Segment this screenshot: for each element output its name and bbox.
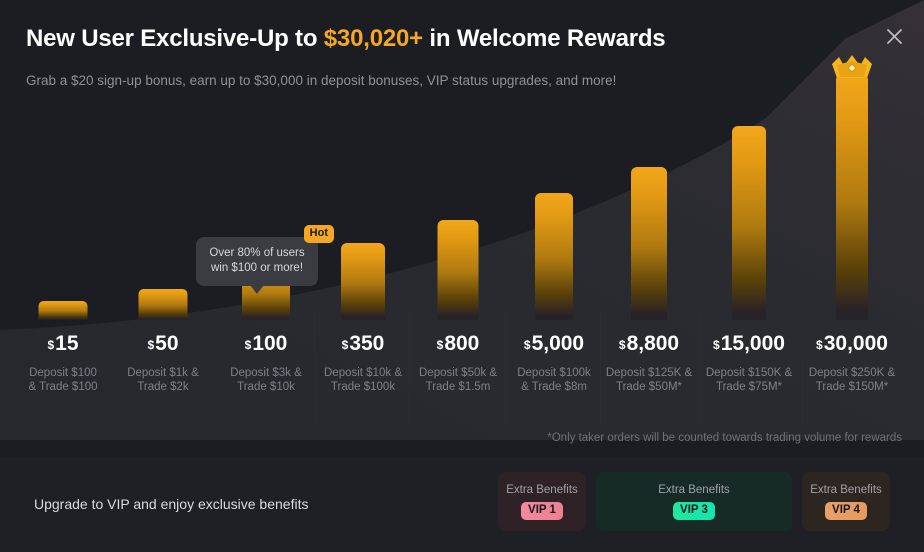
vip-benefit-card[interactable]: Extra BenefitsVIP 3: [596, 472, 792, 531]
vip-footer: Upgrade to VIP and enjoy exclusive benef…: [0, 458, 924, 552]
reward-amount: $350: [342, 332, 385, 358]
reward-amount-value: 30,000: [824, 332, 888, 356]
currency-symbol: $: [147, 333, 154, 357]
currency-symbol: $: [342, 333, 349, 357]
column-divider: [505, 310, 506, 424]
column-divider: [314, 310, 315, 424]
tier-requirement: Deposit $150K &: [700, 366, 798, 380]
bar-zone: [600, 96, 698, 320]
reward-tier-column[interactable]: $8,800Deposit $125K &Trade $50M*: [600, 96, 698, 424]
tier-requirement-line2: Trade $75M*: [700, 380, 798, 394]
reward-bar: [732, 126, 766, 320]
rewards-bar-chart: $15Deposit $100& Trade $100$50Deposit $1…: [0, 96, 924, 424]
reward-amount-value: 8,800: [627, 332, 680, 356]
reward-amount-value: 800: [444, 332, 479, 356]
tier-requirement-line2: Trade $50M*: [600, 380, 698, 394]
bar-zone: [217, 96, 315, 320]
bar-zone: [802, 96, 902, 320]
vip-level-badge: VIP 3: [673, 502, 715, 520]
reward-amount-value: 100: [252, 332, 287, 356]
tier-requirement-line2: & Trade $8m: [505, 380, 603, 394]
vip-benefit-card[interactable]: Extra BenefitsVIP 4: [802, 472, 890, 531]
reward-amount: $15,000: [713, 332, 785, 358]
tier-requirement: Deposit $100k: [505, 366, 603, 380]
currency-symbol: $: [524, 333, 531, 357]
close-button[interactable]: [878, 20, 910, 52]
tooltip-line-1: Over 80% of users: [206, 246, 308, 261]
tier-requirement-line2: Trade $1.5m: [409, 380, 507, 394]
vip-card-list: Extra BenefitsVIP 1Extra BenefitsVIP 3Ex…: [498, 472, 890, 531]
promo-modal: New User Exclusive-Up to $30,020+ in Wel…: [0, 0, 924, 552]
reward-amount-value: 50: [155, 332, 178, 356]
reward-tier-column[interactable]: $15Deposit $100& Trade $100: [14, 96, 112, 424]
reward-amount: $800: [437, 332, 480, 358]
bar-zone: [14, 96, 112, 320]
reward-bar: [139, 289, 188, 320]
page-title: New User Exclusive-Up to $30,020+ in Wel…: [26, 22, 898, 56]
currency-symbol: $: [816, 333, 823, 357]
column-divider: [409, 310, 410, 424]
tooltip-pointer-icon: [250, 285, 264, 294]
reward-amount: $30,000: [816, 332, 888, 358]
vip-benefit-card[interactable]: Extra BenefitsVIP 1: [498, 472, 586, 531]
currency-symbol: $: [619, 333, 626, 357]
reward-amount: $50: [147, 332, 178, 358]
reward-amount: $15: [47, 332, 78, 358]
reward-bar: [836, 74, 868, 320]
tier-requirement-line2: Trade $150M*: [802, 380, 902, 394]
tier-requirement: Deposit $3k &: [217, 366, 315, 380]
tooltip-line-2: win $100 or more!: [206, 261, 308, 276]
currency-symbol: $: [437, 333, 444, 357]
reward-bar: [39, 301, 88, 320]
tier-requirement-line2: Trade $100k: [314, 380, 412, 394]
hot-tier-tooltip: Over 80% of users win $100 or more! Hot: [196, 237, 318, 286]
modal-subtitle: Grab a $20 sign-up bonus, earn up to $30…: [26, 71, 898, 90]
reward-tier-column[interactable]: $350Deposit $10k &Trade $100k: [314, 96, 412, 424]
vip-card-title: Extra Benefits: [810, 483, 882, 497]
reward-tier-column[interactable]: $5,000Deposit $100k& Trade $8m: [505, 96, 603, 424]
title-amount: $30,020+: [324, 25, 423, 52]
close-icon: [886, 28, 903, 45]
column-divider: [700, 310, 701, 424]
reward-bar: [631, 167, 667, 320]
tier-requirement: Deposit $1k &: [114, 366, 212, 380]
reward-tier-column[interactable]: $800Deposit $50k &Trade $1.5m: [409, 96, 507, 424]
bar-zone: [114, 96, 212, 320]
vip-card-title: Extra Benefits: [506, 483, 578, 497]
currency-symbol: $: [47, 333, 54, 357]
reward-tier-column[interactable]: $15,000Deposit $150K &Trade $75M*: [700, 96, 798, 424]
tier-requirement: Deposit $100: [14, 366, 112, 380]
tier-requirement-line2: & Trade $100: [14, 380, 112, 394]
reward-amount: $5,000: [524, 332, 584, 358]
modal-header: New User Exclusive-Up to $30,020+ in Wel…: [0, 0, 924, 90]
reward-amount: $100: [245, 332, 288, 358]
vip-level-badge: VIP 1: [521, 502, 563, 520]
title-prefix: New User Exclusive-Up to: [26, 25, 324, 52]
vip-card-title: Extra Benefits: [658, 483, 730, 497]
reward-amount-value: 15: [55, 332, 78, 356]
tier-requirement-line2: Trade $2k: [114, 380, 212, 394]
column-divider: [600, 310, 601, 424]
tier-requirement: Deposit $50k &: [409, 366, 507, 380]
currency-symbol: $: [713, 333, 720, 357]
reward-bar: [438, 220, 479, 320]
reward-amount: $8,800: [619, 332, 679, 358]
bar-zone: [505, 96, 603, 320]
reward-bar: [535, 193, 573, 320]
footnote-text: *Only taker orders will be counted towar…: [547, 430, 902, 446]
tier-requirement: Deposit $10k &: [314, 366, 412, 380]
reward-amount-value: 5,000: [532, 332, 585, 356]
hot-badge: Hot: [304, 225, 334, 243]
bar-zone: [314, 96, 412, 320]
currency-symbol: $: [245, 333, 252, 357]
bar-zone: [700, 96, 798, 320]
column-divider: [802, 310, 803, 424]
tier-requirement-line2: Trade $10k: [217, 380, 315, 394]
tier-requirement: Deposit $125K &: [600, 366, 698, 380]
title-suffix: in Welcome Rewards: [423, 25, 666, 52]
vip-upgrade-label: Upgrade to VIP and enjoy exclusive benef…: [34, 496, 308, 512]
reward-amount-value: 350: [349, 332, 384, 356]
vip-level-badge: VIP 4: [825, 502, 867, 520]
bar-zone: [409, 96, 507, 320]
tier-requirement: Deposit $250K &: [802, 366, 902, 380]
reward-bar: [341, 243, 385, 320]
reward-tier-column[interactable]: $30,000Deposit $250K &Trade $150M*: [802, 96, 902, 424]
reward-amount-value: 15,000: [721, 332, 785, 356]
